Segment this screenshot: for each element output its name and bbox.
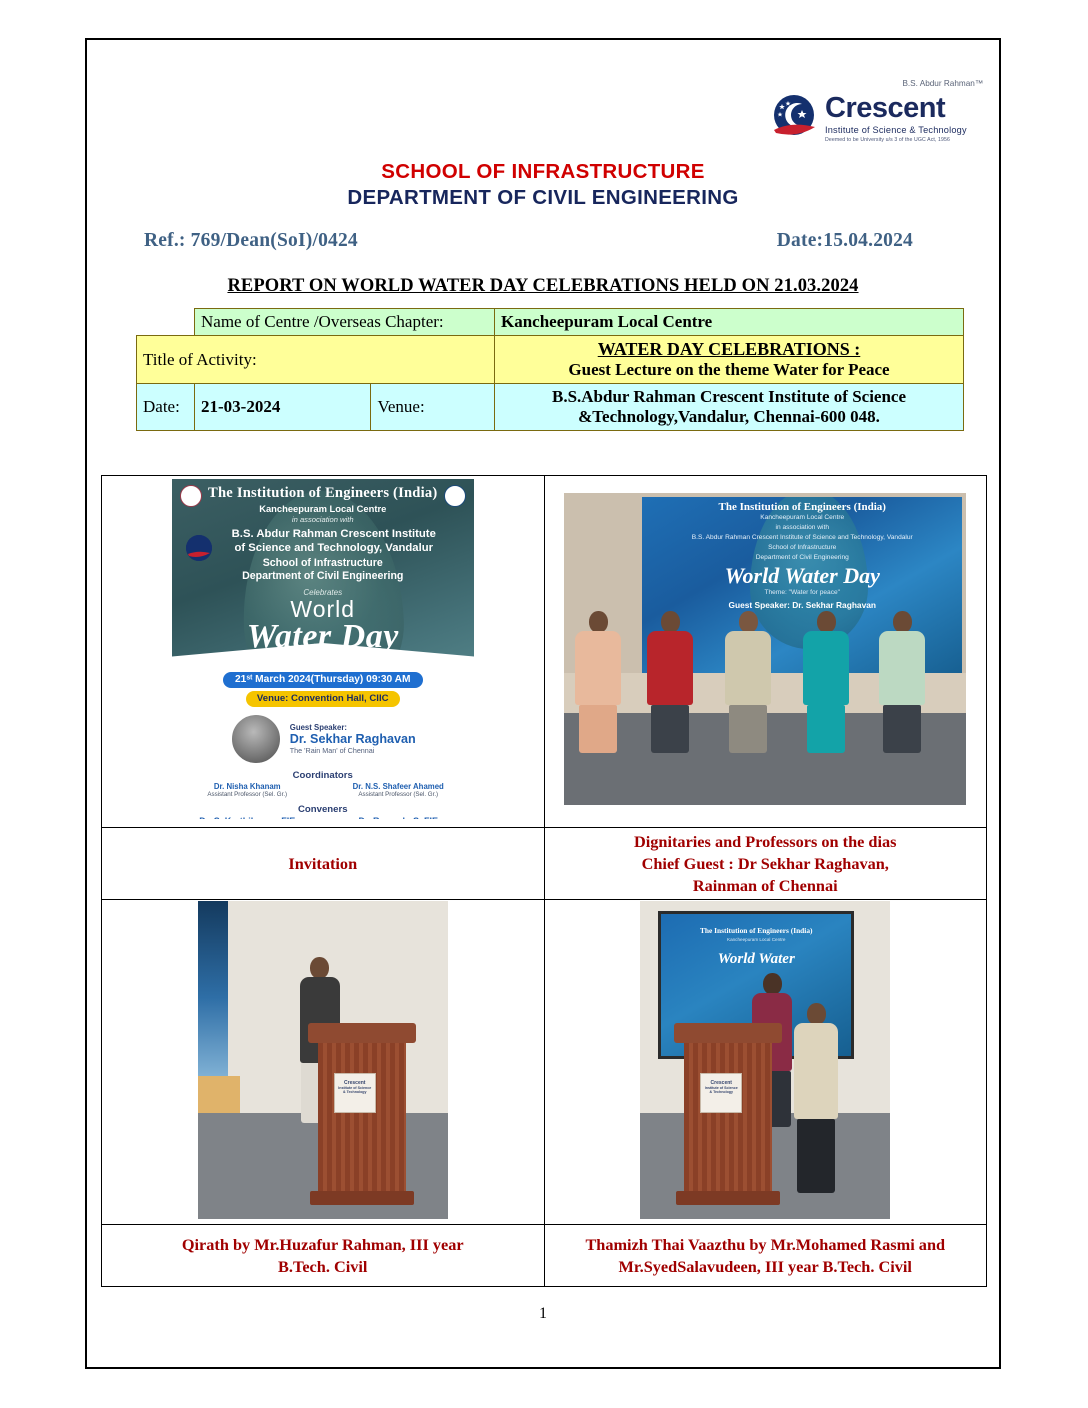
venue-value: B.S.Abdur Rahman Crescent Institute of S…: [495, 384, 964, 431]
caption-line: Thamizh Thai Vaazthu by Mr.Mohamed Rasmi…: [545, 1234, 987, 1256]
plaque-line-3: & Technology: [701, 1090, 741, 1094]
table-row-title: Title of Activity: WATER DAY CELEBRATION…: [137, 336, 964, 384]
poster-ioe-title: The Institution of Engineers (India): [172, 485, 474, 502]
poster-school: School of Infrastructure: [172, 557, 474, 570]
caption-line: B.Tech. Civil: [102, 1256, 544, 1278]
caption-line: Rainman of Chennai: [545, 875, 987, 897]
backdrop-wwd-title: World Water Day: [642, 565, 962, 587]
activity-label: Title of Activity:: [137, 336, 495, 384]
screen-title: The Institution of Engineers (India): [661, 926, 851, 935]
venue-line-1: B.S.Abdur Rahman Crescent Institute of S…: [501, 387, 957, 407]
poster-speaker-block: Guest Speaker: Dr. Sekhar Raghavan The '…: [172, 713, 474, 765]
thamizh-thai-vaazthu-photo: The Institution of Engineers (India) Kan…: [640, 901, 890, 1219]
table-row-centre: Name of Centre /Overseas Chapter: Kanche…: [137, 309, 964, 336]
logo-wordmark: Crescent Institute of Science & Technolo…: [825, 94, 985, 143]
coordinator-item: Dr. Nisha Khanam Assistant Professor (Se…: [175, 782, 320, 799]
page-number: 1: [87, 1305, 999, 1323]
caption-invitation: Invitation: [102, 828, 545, 900]
caption-line: Mr.SyedSalavudeen, III year B.Tech. Civi…: [545, 1256, 987, 1278]
photo-cell-dignitaries: The Institution of Engineers (India) Kan…: [544, 476, 987, 828]
caption-row-2: Qirath by Mr.Huzafur Rahman, III year B.…: [102, 1225, 987, 1287]
poster-date-badge: 21ˢᵗ March 2024(Thursday) 09:30 AM: [223, 672, 423, 688]
backdrop-title: The Institution of Engineers (India): [642, 501, 962, 513]
invitation-poster-image: The Institution of Engineers (India) Kan…: [172, 479, 474, 819]
caption-line: Qirath by Mr.Huzafur Rahman, III year: [102, 1234, 544, 1256]
coordinators-label: Coordinators: [172, 770, 474, 781]
table-row-date-venue: Date: 21-03-2024 Venue: B.S.Abdur Rahman…: [137, 384, 964, 431]
screen-subtitle: Kancheepuram Local Centre: [661, 937, 851, 943]
backdrop-line5: Department of Civil Engineering: [642, 554, 962, 563]
document-date: Date:15.04.2024: [777, 230, 913, 252]
speaker-details: Guest Speaker: Dr. Sekhar Raghavan The '…: [290, 723, 416, 755]
caption-dignitaries: Dignitaries and Professors on the dias C…: [544, 828, 987, 900]
podium-top: [674, 1023, 782, 1043]
photo-cell-qirath: Crescent Institute of Science & Technolo…: [102, 900, 545, 1225]
conveners-label: Conveners: [172, 804, 474, 815]
caption-line: Chief Guest : Dr Sekhar Raghavan,: [545, 853, 987, 875]
poster-association: in association with: [172, 515, 474, 524]
student-person: [790, 1003, 842, 1193]
convener-name: Dr. Ramesh .S, FIE: [326, 816, 471, 819]
logo-brand-text: Crescent: [825, 94, 985, 123]
qirath-podium-photo: Crescent Institute of Science & Technolo…: [198, 901, 448, 1219]
photo-cell-invitation: The Institution of Engineers (India) Kan…: [102, 476, 545, 828]
photo-cell-thamizh-thai-vaazthu: The Institution of Engineers (India) Kan…: [544, 900, 987, 1225]
podium-body: [318, 1043, 406, 1191]
backdrop-theme: Theme: "Water for peace": [642, 589, 962, 596]
backdrop-line1: Kancheepuram Local Centre: [642, 514, 962, 523]
venue-label: Venue:: [371, 384, 495, 431]
centre-value: Kancheepuram Local Centre: [495, 309, 964, 336]
speaker-tagline: The 'Rain Man' of Chennai: [290, 746, 416, 755]
activity-main: WATER DAY CELEBRATIONS :: [501, 339, 957, 360]
backdrop-line4: School of Infrastructure: [642, 544, 962, 553]
podium-crescent-plaque: Crescent Institute of Science & Technolo…: [700, 1073, 742, 1113]
photo-grid-table: The Institution of Engineers (India) Kan…: [101, 475, 987, 1287]
conveners-list-top: Dr. S. Karthikeyan, FIE Honorary Secreta…: [172, 816, 474, 819]
caption-qirath: Qirath by Mr.Huzafur Rahman, III year B.…: [102, 1225, 545, 1287]
caption-row-1: Invitation Dignitaries and Professors on…: [102, 828, 987, 900]
coordinator-role: Assistant Professor (Sel. Gr.): [175, 791, 320, 798]
logo-subtitle: Institute of Science & Technology: [825, 125, 985, 135]
poster-ioe-centre: Kancheepuram Local Centre: [172, 503, 474, 514]
speaker-label: Guest Speaker:: [290, 723, 416, 732]
coordinator-role: Assistant Professor (Sel. Gr.): [326, 791, 471, 798]
dignitary-person: [644, 611, 696, 753]
activity-value: WATER DAY CELEBRATIONS : Guest Lecture o…: [495, 336, 964, 384]
crescent-moon-star-emblem-icon: [769, 94, 821, 142]
convener-item: Dr. S. Karthikeyan, FIE Honorary Secreta…: [175, 816, 320, 819]
poster-institute-line2: of Science and Technology, Vandalur: [194, 541, 474, 555]
dignitaries-stage-photo: The Institution of Engineers (India) Kan…: [564, 493, 966, 805]
podium-body: [684, 1043, 772, 1191]
speaker-portrait: [230, 713, 282, 765]
poster-institute-line1: B.S. Abdur Rahman Crescent Institute: [194, 527, 474, 541]
wooden-podium: Crescent Institute of Science & Technolo…: [308, 1023, 416, 1205]
logo-top-text: B.S. Abdur Rahman™: [902, 79, 983, 88]
plaque-line-3: & Technology: [335, 1090, 375, 1094]
speaker-name: Dr. Sekhar Raghavan: [290, 732, 416, 746]
podium-crescent-plaque: Crescent Institute of Science & Technolo…: [334, 1073, 376, 1113]
coordinator-name: Dr. N.S. Shafeer Ahamed: [326, 782, 471, 791]
podium-base: [676, 1191, 780, 1205]
poster-department: Department of Civil Engineering: [172, 570, 474, 583]
podium-base: [310, 1191, 414, 1205]
podium-top: [308, 1023, 416, 1043]
department-heading: DEPARTMENT OF CIVIL ENGINEERING: [87, 186, 999, 210]
screen-wwd-title: World Water: [661, 951, 851, 968]
crescent-institute-logo: B.S. Abdur Rahman™ Crescent Institute of…: [769, 90, 985, 156]
photo-row-1: The Institution of Engineers (India) Kan…: [102, 476, 987, 828]
document-page: B.S. Abdur Rahman™ Crescent Institute of…: [85, 38, 1001, 1369]
side-screen: [198, 901, 228, 1076]
dignitary-person: [572, 611, 624, 753]
caption-line: Dignitaries and Professors on the dias: [545, 831, 987, 853]
centre-label: Name of Centre /Overseas Chapter:: [195, 309, 495, 336]
backdrop-line2: in association with: [642, 524, 962, 533]
reference-number: Ref.: 769/Dean(SoI)/0424: [144, 230, 358, 252]
dignitary-person: [800, 611, 852, 753]
dignitary-person: [876, 611, 928, 753]
poster-institute: B.S. Abdur Rahman Crescent Institute of …: [172, 527, 474, 555]
coordinator-item: Dr. N.S. Shafeer Ahamed Assistant Profes…: [326, 782, 471, 799]
photo-row-2: Crescent Institute of Science & Technolo…: [102, 900, 987, 1225]
school-heading: SCHOOL OF INFRASTRUCTURE: [87, 160, 999, 184]
wooden-podium: Crescent Institute of Science & Technolo…: [674, 1023, 782, 1205]
caption-thamizh-thai-vaazthu: Thamizh Thai Vaazthu by Mr.Mohamed Rasmi…: [544, 1225, 987, 1287]
coordinator-name: Dr. Nisha Khanam: [175, 782, 320, 791]
convener-name: Dr. S. Karthikeyan, FIE: [175, 816, 320, 819]
backdrop-line3: B.S. Abdur Rahman Crescent Institute of …: [642, 534, 962, 543]
date-label: Date:: [137, 384, 195, 431]
venue-line-2: &Technology,Vandalur, Chennai-600 048.: [501, 407, 957, 427]
convener-item: Dr. Ramesh .S, FIE National Council Memb…: [326, 816, 471, 819]
activity-sub: Guest Lecture on the theme Water for Pea…: [501, 360, 957, 380]
poster-venue-badge: Venue: Convention Hall, CIIC: [246, 691, 400, 707]
coordinators-list: Dr. Nisha Khanam Assistant Professor (Se…: [172, 782, 474, 799]
report-title: REPORT ON WORLD WATER DAY CELEBRATIONS H…: [87, 276, 999, 297]
logo-accreditation: Deemed to be University u/s 3 of the UGC…: [825, 137, 985, 143]
backdrop-speaker: Guest Speaker: Dr. Sekhar Raghavan: [642, 600, 962, 610]
date-value: 21-03-2024: [195, 384, 371, 431]
dignitary-person: [722, 611, 774, 753]
poster-school-dept: School of Infrastructure Department of C…: [172, 557, 474, 583]
activity-info-table: Name of Centre /Overseas Chapter: Kanche…: [136, 308, 964, 431]
